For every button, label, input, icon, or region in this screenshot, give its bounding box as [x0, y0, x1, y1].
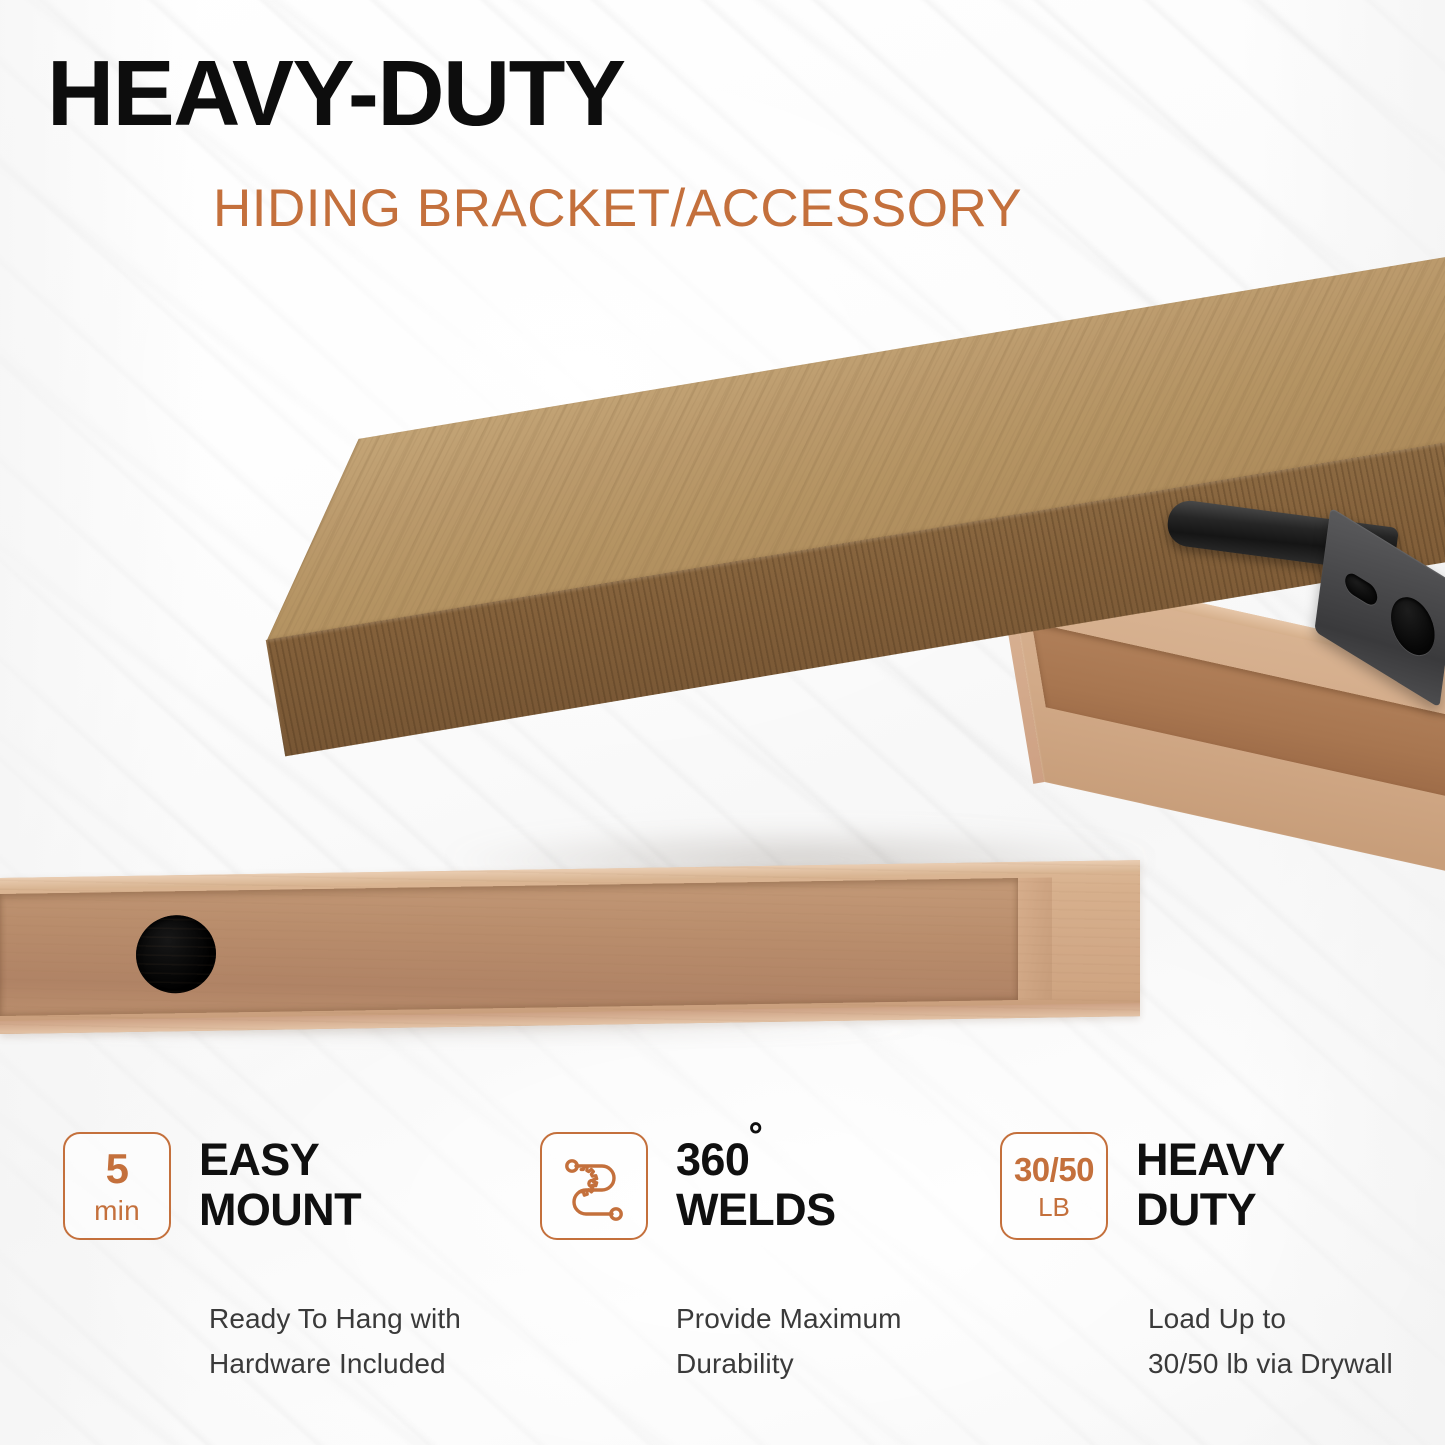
weight-capacity-badge-icon: 30/50 LB	[1000, 1132, 1108, 1240]
feature-description: Load Up to 30/50 lb via Drywall	[1148, 1296, 1445, 1387]
badge-value: 30/50	[1014, 1153, 1094, 1186]
timer-badge-icon: 5 min	[63, 1132, 171, 1240]
hero-product-photo	[0, 255, 1445, 825]
feature-headline: 360˚WELDS	[676, 1132, 836, 1234]
weld-path-gear-icon	[540, 1132, 648, 1240]
headline-360: 360	[676, 1134, 749, 1185]
feature-description: Provide Maximum Durability	[676, 1296, 990, 1387]
feature-headline: HEAVY DUTY	[1136, 1132, 1285, 1234]
bracket-screw-hole-large	[1388, 587, 1438, 665]
feature-description: Ready To Hang with Hardware Included	[209, 1296, 533, 1387]
page-subtitle: HIDING BRACKET/ACCESSORY	[213, 182, 1022, 235]
badge-unit: min	[94, 1197, 140, 1225]
feature-list: 5 min EASY MOUNT Ready To Hang with Hard…	[0, 1132, 1445, 1432]
feature-heavy-duty: 30/50 LB HEAVY DUTY Load Up to 30/50 lb …	[1000, 1132, 1445, 1387]
badge-unit: LB	[1038, 1194, 1070, 1220]
feature-easy-mount: 5 min EASY MOUNT Ready To Hang with Hard…	[63, 1132, 533, 1387]
strip-drop-shadow	[0, 1028, 1140, 1058]
feature-headline: EASY MOUNT	[199, 1132, 361, 1234]
strip-grain-texture	[0, 860, 1140, 1034]
feature-360-welds: 360˚WELDS Provide Maximum Durability	[540, 1132, 990, 1387]
strip-mdf-body	[0, 860, 1140, 1034]
page-title: HEAVY-DUTY	[47, 47, 625, 140]
badge-value: 5	[106, 1148, 129, 1190]
cutaway-strip-photo	[0, 878, 1160, 1040]
product-infographic: HEAVY-DUTY HIDING BRACKET/ACCESSORY	[0, 0, 1445, 1445]
headline-welds: WELDS	[676, 1184, 836, 1235]
degree-symbol: ˚	[749, 1118, 763, 1169]
bracket-screw-slot	[1344, 570, 1378, 609]
